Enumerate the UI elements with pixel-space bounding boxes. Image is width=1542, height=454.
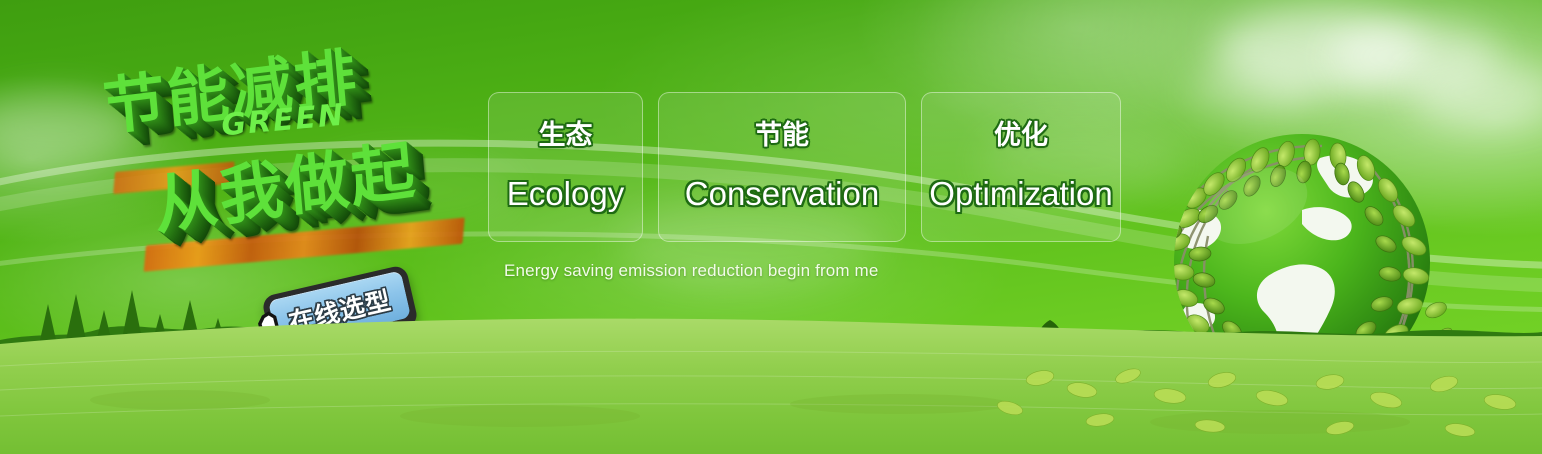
cloud-icon: [1330, 22, 1500, 92]
feature-card-label-cn: 节能: [755, 122, 809, 149]
feature-card-label-cn: 优化: [994, 122, 1048, 149]
feature-card-label-en: Ecology: [507, 177, 624, 210]
leafy-earth-globe-icon: [1152, 114, 1452, 414]
feature-card-label-en: Optimization: [929, 177, 1112, 210]
headline-3d: 节能减排 GREEN 从我做起: [87, 19, 506, 283]
feature-card-list: 生态 Ecology 节能 Conservation 优化 Optimizati…: [488, 92, 1121, 242]
feature-card-label-cn: 生态: [539, 122, 593, 149]
feature-card-optimization[interactable]: 优化 Optimization: [921, 92, 1121, 242]
feature-card-ecology[interactable]: 生态 Ecology: [488, 92, 643, 242]
cloud-icon: [1190, 62, 1320, 120]
feature-card-conservation[interactable]: 节能 Conservation: [658, 92, 906, 242]
feature-card-label-en: Conservation: [685, 177, 879, 210]
pointing-hand-cursor-icon: [242, 310, 316, 392]
online-selection-cta[interactable]: 在线选型: [256, 272, 426, 376]
banner-tagline: Energy saving emission reduction begin f…: [504, 261, 878, 281]
cloud-icon: [1215, 8, 1425, 94]
eco-hero-banner: 节能减排 GREEN 从我做起 生态 Ecology 节能 Conservati…: [0, 0, 1542, 454]
